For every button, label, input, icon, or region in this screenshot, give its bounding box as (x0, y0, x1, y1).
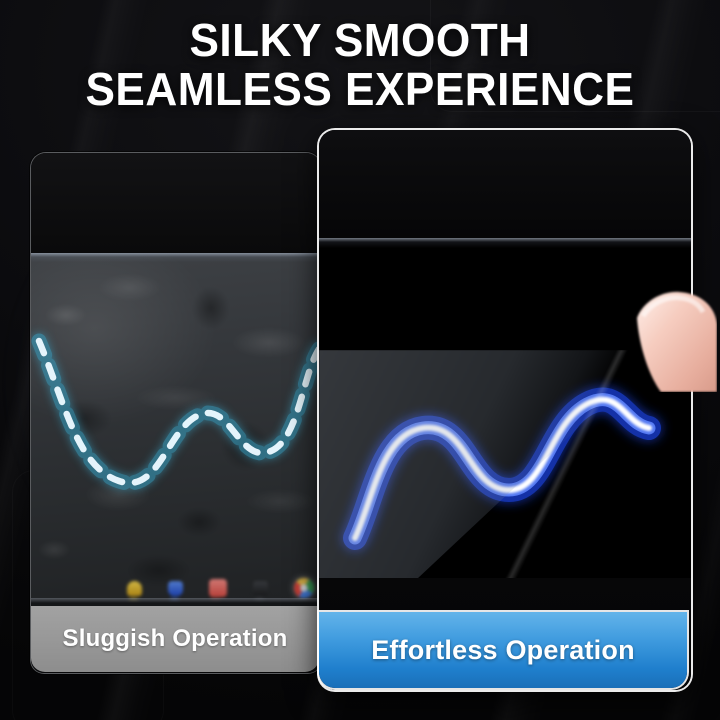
left-screen-matte-texture (31, 253, 321, 598)
caption-sluggish: Sluggish Operation (31, 606, 319, 672)
panel-sluggish (30, 152, 322, 674)
app-icon-yellow[interactable] (127, 581, 142, 596)
promo-banner: SILKY SMOOTH SEAMLESS EXPERIENCE (0, 0, 720, 720)
app-icon-dark[interactable] (253, 581, 268, 596)
left-screen-upper-bezel (31, 153, 321, 253)
caption-effortless: Effortless Operation (319, 612, 687, 688)
caption-sluggish-label: Sluggish Operation (63, 625, 288, 653)
right-screen-upper-bezel (319, 130, 691, 238)
background-ghost-card-top-right (430, 0, 720, 112)
app-icon-blue[interactable] (168, 581, 183, 596)
app-icon-chrome[interactable] (294, 578, 314, 598)
app-icon-red[interactable] (209, 579, 227, 597)
right-screen-surface (319, 238, 691, 578)
left-screen-surface (31, 253, 321, 598)
panel-effortless (317, 128, 693, 692)
caption-effortless-label: Effortless Operation (371, 635, 635, 666)
